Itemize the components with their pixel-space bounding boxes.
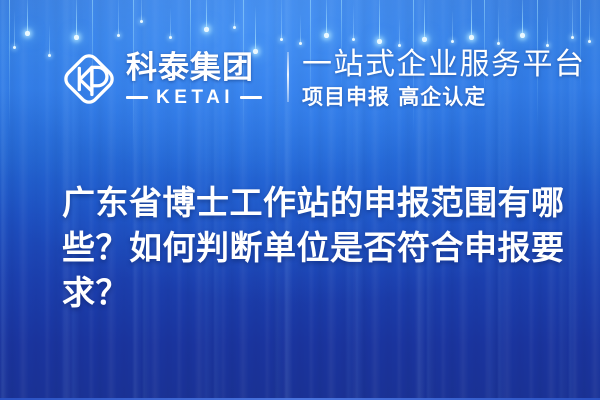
meteor-streak <box>141 0 142 22</box>
tagline-block: 一站式企业服务平台 项目申报 高企认定 <box>302 47 586 110</box>
meteor-streak <box>498 6 499 44</box>
promo-banner: 科泰集团 KETAI 一站式企业服务平台 项目申报 高企认定 广东省博士工作站的… <box>0 0 600 400</box>
meteor-streak <box>424 0 425 40</box>
brand-name-en: KETAI <box>156 88 234 108</box>
dash-left-icon <box>126 96 148 99</box>
meteor-streak <box>471 0 472 38</box>
headline-title: 广东省博士工作站的申报范围有哪些？如何判断单位是否符合申报要求？ <box>62 180 574 315</box>
brand-logo: 科泰集团 KETAI <box>58 48 262 110</box>
meteor-streak <box>118 0 119 36</box>
meteor-streak <box>379 0 380 42</box>
meteor-streak <box>281 0 282 40</box>
tagline-secondary: 项目申报 高企认定 <box>302 84 586 110</box>
meteor-streak <box>49 24 50 56</box>
meteor-streak <box>234 0 235 28</box>
meteor-streak <box>452 10 453 42</box>
dash-right-icon <box>240 96 262 99</box>
meteor-streak <box>572 0 573 38</box>
meteor-streak <box>76 0 77 38</box>
accent-line <box>9 0 10 130</box>
meteor-streak <box>255 6 256 52</box>
meteor-streak <box>589 8 590 42</box>
meteor-streak <box>206 0 207 30</box>
meteor-streak <box>170 8 171 38</box>
brand-wordmark: 科泰集团 KETAI <box>126 51 262 108</box>
meteor-streak <box>300 14 301 44</box>
ketai-diamond-kt-monogram-icon <box>58 48 120 110</box>
brand-name-cn: 科泰集团 <box>126 51 262 85</box>
logo-tagline-divider <box>287 52 289 102</box>
meteor-streak <box>547 16 548 46</box>
meteor-streak <box>353 4 354 40</box>
meteor-streak <box>399 18 400 46</box>
meteor-streak <box>522 0 523 36</box>
tagline-primary: 一站式企业服务平台 <box>302 47 586 83</box>
meteor-streak <box>27 0 28 34</box>
brand-name-en-row: KETAI <box>126 88 262 108</box>
meteor-streak <box>14 10 15 48</box>
meteor-streak <box>326 0 327 36</box>
